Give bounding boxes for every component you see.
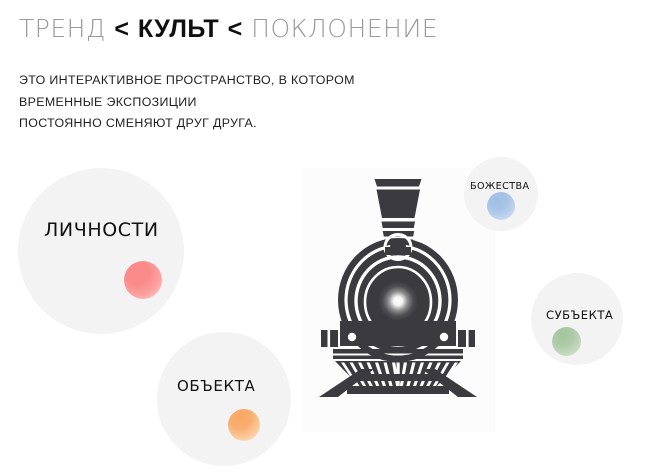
bubble-label-bozhestva: БОЖЕСТВА — [470, 181, 529, 192]
headline-word-worship: ПОКЛОНЕНИЕ — [251, 14, 438, 43]
headline-word-trend: ТРЕНД — [19, 14, 106, 43]
bubble-lichnosti[interactable] — [18, 168, 184, 334]
page-title: ТРЕНД < КУЛЬТ < ПОКЛОНЕНИЕ — [19, 16, 438, 42]
headline-word-cult: КУЛЬТ — [138, 15, 219, 43]
bubble-label-subiekta: СУБЪЕКТА — [546, 308, 613, 322]
bubble-dot-lichnosti — [124, 261, 162, 299]
bubble-dot-subiekta — [552, 327, 581, 356]
headline-chevron-2: < — [227, 15, 244, 43]
steam-locomotive-icon — [316, 175, 480, 397]
bubble-label-obiekta: ОБЪЕКТА — [177, 377, 255, 395]
bubble-obiekta[interactable] — [157, 332, 291, 466]
body-line-2: ВРЕМЕННЫЕ ЭКСПОЗИЦИИ — [19, 92, 355, 114]
body-paragraph: ЭТО ИНТЕРАКТИВНОЕ ПРОСТРАНСТВО, В КОТОРО… — [19, 70, 355, 135]
body-line-1: ЭТО ИНТЕРАКТИВНОЕ ПРОСТРАНСТВО, В КОТОРО… — [19, 70, 355, 92]
bubble-label-lichnosti: ЛИЧНОСТИ — [44, 219, 159, 241]
slide-canvas: ТРЕНД < КУЛЬТ < ПОКЛОНЕНИЕ ЭТО ИНТЕРАКТИ… — [0, 0, 650, 474]
bubble-dot-bozhestva — [487, 192, 515, 220]
headline-chevron-1: < — [113, 15, 130, 43]
bubble-dot-obiekta — [228, 409, 260, 441]
body-line-3: ПОСТОЯННО СМЕНЯЮТ ДРУГ ДРУГА. — [19, 113, 355, 135]
